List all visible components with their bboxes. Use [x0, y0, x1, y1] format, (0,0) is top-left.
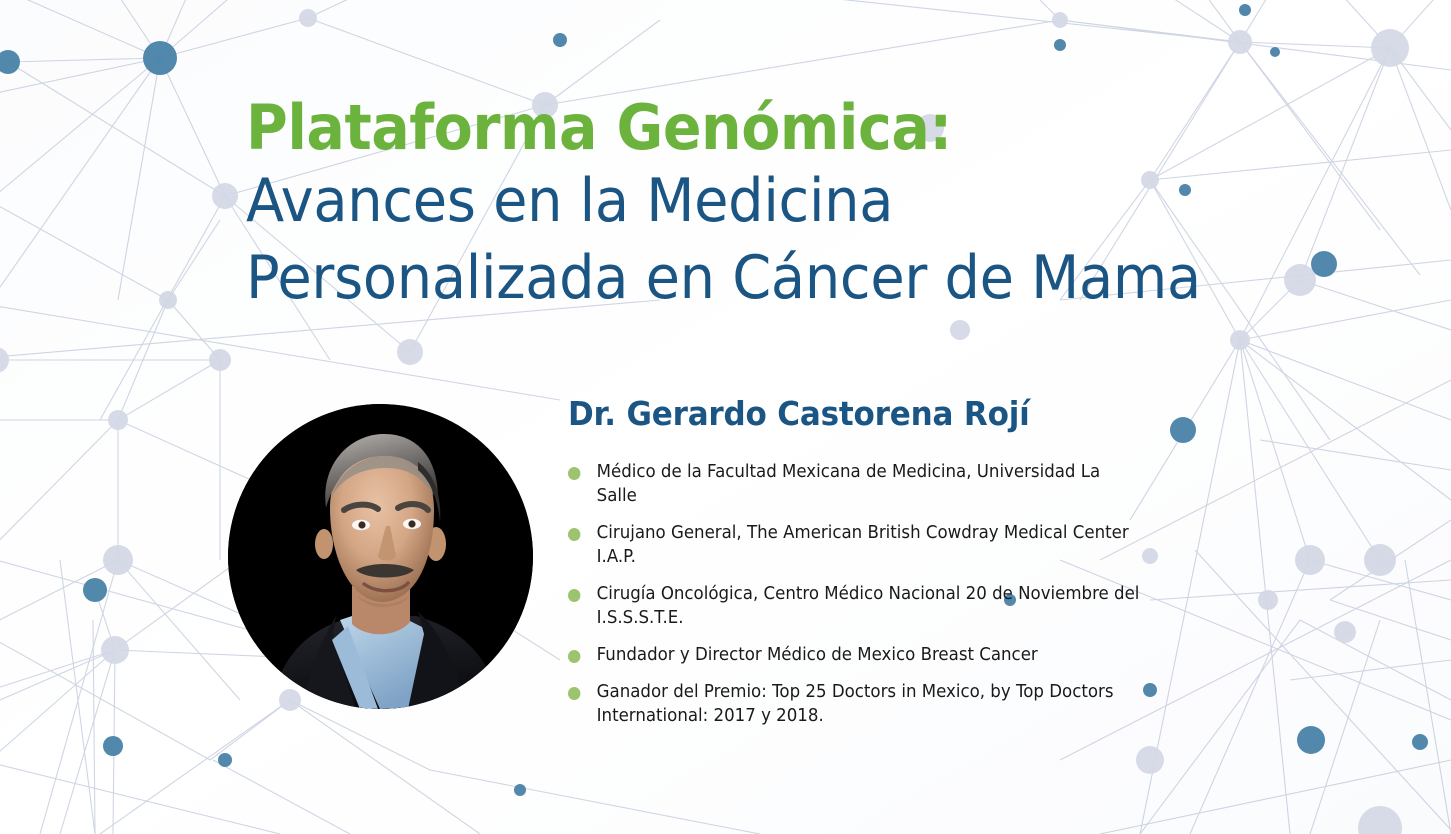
speaker-name: Dr. Gerardo Castorena Rojí: [568, 396, 1151, 432]
speaker-portrait-avatar: [228, 404, 533, 709]
credential-text: Cirujano General, The American British C…: [597, 523, 1129, 567]
bullet-dot-icon: [568, 650, 580, 663]
credential-text: Cirugía Oncológica, Centro Médico Nacion…: [597, 584, 1140, 628]
list-item: Médico de la Facultad Mexicana de Medici…: [568, 460, 1141, 508]
list-item: Cirujano General, The American British C…: [568, 521, 1141, 569]
title-line-tertiary: Personalizada en Cáncer de Mama: [246, 240, 1232, 317]
list-item: Fundador y Director Médico de Mexico Bre…: [568, 643, 1141, 667]
presentation-slide: Plataforma Genómica: Avances en la Medic…: [0, 0, 1451, 834]
bullet-dot-icon: [568, 467, 580, 480]
credential-text: Ganador del Premio: Top 25 Doctors in Me…: [597, 682, 1114, 726]
speaker-info-block: Dr. Gerardo Castorena Rojí Médico de la …: [568, 396, 1188, 728]
credential-text: Médico de la Facultad Mexicana de Medici…: [597, 462, 1101, 506]
speaker-credentials-list: Médico de la Facultad Mexicana de Medici…: [568, 460, 1168, 728]
slide-headline: Plataforma Genómica: Avances en la Medic…: [246, 96, 1306, 317]
title-line-primary: Plataforma Genómica:: [246, 96, 1221, 159]
list-item: Cirugía Oncológica, Centro Médico Nacion…: [568, 582, 1141, 630]
bullet-dot-icon: [568, 687, 580, 700]
bullet-dot-icon: [568, 528, 580, 541]
title-line-secondary: Avances en la Medicina: [246, 163, 1232, 240]
list-item: Ganador del Premio: Top 25 Doctors in Me…: [568, 680, 1141, 728]
credential-text: Fundador y Director Médico de Mexico Bre…: [597, 645, 1038, 665]
bullet-dot-icon: [568, 589, 580, 602]
